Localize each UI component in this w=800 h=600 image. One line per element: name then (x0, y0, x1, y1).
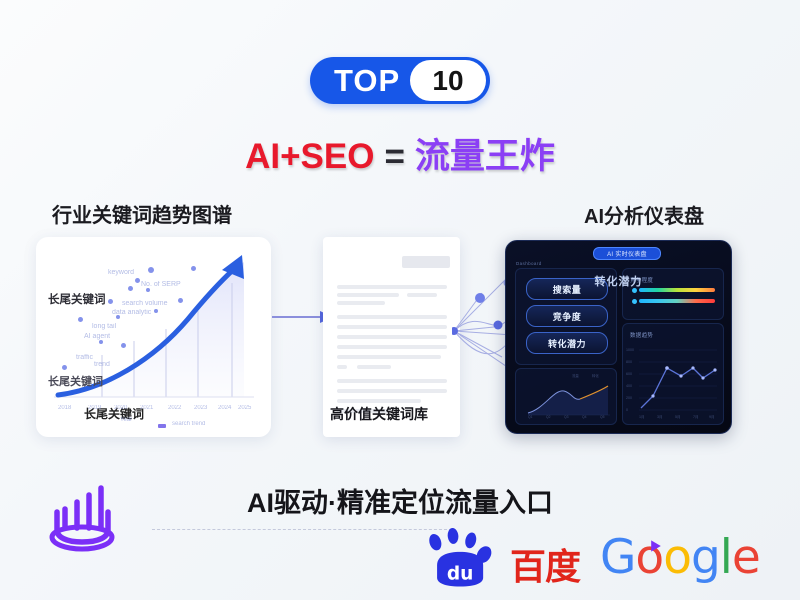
axis-note: Year (120, 417, 132, 423)
doc-card-label: 高价值关键词库 (330, 404, 428, 424)
scatter-dot (128, 286, 133, 291)
footer-divider (152, 529, 452, 530)
metric-pill-label: 竞争度 (553, 310, 582, 323)
google-letter-o2: o (663, 530, 691, 585)
doc-line (337, 301, 385, 305)
doc-line (337, 399, 421, 403)
search-engine-logos: du 百度 Google (415, 520, 755, 590)
y-tick: 200 (626, 396, 632, 400)
y-tick: 800 (626, 360, 632, 364)
baidu-paw-icon: du (415, 528, 507, 590)
headline-equals: = (384, 137, 404, 176)
axis-tick: 2024 (218, 405, 231, 411)
area-legend-2: 转化 (592, 373, 599, 378)
gauge-bar-2 (639, 299, 715, 303)
headline: AI+SEO=流量王炸 (0, 128, 800, 179)
scatter-dot (146, 288, 150, 292)
headline-right: 流量王炸 (415, 137, 555, 176)
doc-line (337, 345, 447, 349)
baidu-logo-text: 百度 (510, 538, 580, 590)
scatter-dot (154, 309, 158, 313)
doc-line (407, 293, 437, 297)
metric-pill-competition[interactable]: 竞争度 (526, 305, 608, 327)
doc-line (337, 365, 347, 369)
doc-line (337, 335, 447, 339)
axis-tick: 2021 (140, 405, 153, 411)
ai-dashboard-card: AI 实时仪表盘 Dashboard 搜索量 竞争度 转化潜力 竞争程度 转化潜… (505, 240, 732, 434)
doc-line (337, 315, 447, 319)
area-panel: 流量 转化 Q1 Q2 Q3 Q4 Q5 (515, 368, 617, 425)
trend-label-1: 长尾关键词 (48, 291, 106, 307)
gauge-marker-icon (632, 299, 637, 304)
right-section-caption: AI分析仪表盘 (584, 200, 704, 229)
trend-label-2: 长尾关键词 (48, 373, 103, 389)
axis-tick: 2018 (58, 405, 71, 411)
bar-chart-pedestal-icon (44, 482, 132, 558)
play-cursor-icon (648, 538, 664, 554)
scatter-dot (148, 267, 154, 273)
doc-header-block (402, 256, 450, 268)
x-tick: Q3 (564, 415, 569, 419)
doc-line (337, 325, 447, 329)
ghost-term: traffic (76, 354, 93, 361)
google-letter-g2: g (691, 530, 720, 585)
x-tick: Q4 (582, 415, 587, 419)
google-logo: Google (600, 530, 760, 585)
scatter-dot (99, 340, 103, 344)
scatter-dot (116, 315, 120, 319)
scatter-dot (78, 317, 83, 322)
x-tick: 7月 (693, 415, 699, 420)
trend-panel-chart (623, 324, 723, 424)
doc-line (337, 285, 447, 289)
ghost-term: keyword (108, 269, 134, 276)
top-badge: TOP 10 (310, 57, 490, 104)
legend-swatch (158, 424, 166, 428)
ghost-term: search volume (122, 300, 168, 307)
metric-pill-conversion[interactable]: 转化潜力 (526, 332, 608, 354)
metric-pill-label: 转化潜力 (548, 337, 586, 350)
scatter-dot (191, 266, 196, 271)
x-tick: 1月 (639, 415, 645, 420)
slide-canvas: TOP 10 AI+SEO=流量王炸 行业关键词趋势图谱 AI分析仪表盘 (0, 0, 800, 600)
top-badge-number-pill: 10 (410, 60, 486, 101)
legend-label: search trend (172, 421, 205, 427)
y-tick: 0 (626, 408, 628, 412)
dashboard-subtitle: Dashboard (516, 261, 542, 266)
y-tick: 1000 (626, 348, 634, 352)
x-tick: Q2 (546, 415, 551, 419)
scatter-dot (135, 278, 140, 283)
axis-tick: 2022 (168, 405, 181, 411)
ghost-term: AI agent (84, 333, 110, 340)
axis-tick: 2025 (238, 405, 251, 411)
y-tick: 400 (626, 384, 632, 388)
doc-line (337, 293, 399, 297)
ghost-term: long tail (92, 323, 116, 330)
axis-tick: 2019 (88, 405, 101, 411)
trend-panel: 数据趋势 1000 800 600 400 200 0 1月 (622, 323, 724, 425)
ghost-term: trend (94, 361, 110, 368)
x-tick: Q5 (600, 415, 605, 419)
google-letter-l: l (720, 530, 732, 585)
scatter-dot (178, 298, 183, 303)
dashboard-header-badge: AI 实时仪表盘 (593, 247, 661, 260)
x-tick: 9月 (709, 415, 715, 420)
x-tick: 5月 (675, 415, 681, 420)
x-tick: Q1 (528, 415, 533, 419)
ghost-term: No. of SERP (141, 281, 181, 288)
doc-line (337, 389, 447, 393)
keyword-trend-card: keyword No. of SERP search volume data a… (36, 237, 271, 437)
google-letter-g1: G (600, 530, 635, 585)
baidu-du-text: du (447, 563, 474, 584)
top-badge-number: 10 (432, 65, 463, 97)
area-legend-1: 流量 (572, 373, 579, 378)
scatter-dot (108, 299, 113, 304)
scatter-dot (121, 343, 126, 348)
left-section-caption: 行业关键词趋势图谱 (52, 199, 232, 228)
axis-tick: 2020 (114, 405, 127, 411)
gauge-overlay-text: 转化潜力 (506, 273, 731, 289)
doc-line (357, 365, 391, 369)
scatter-dot (62, 365, 67, 370)
google-letter-e: e (732, 530, 760, 585)
headline-left: AI+SEO (245, 137, 374, 176)
y-tick: 600 (626, 372, 632, 376)
dashboard-header-badge-label: AI 实时仪表盘 (607, 249, 647, 258)
doc-line (337, 355, 441, 359)
x-tick: 3月 (657, 415, 663, 420)
axis-tick: 2023 (194, 405, 207, 411)
doc-line (337, 379, 447, 383)
top-badge-word: TOP (334, 63, 400, 99)
